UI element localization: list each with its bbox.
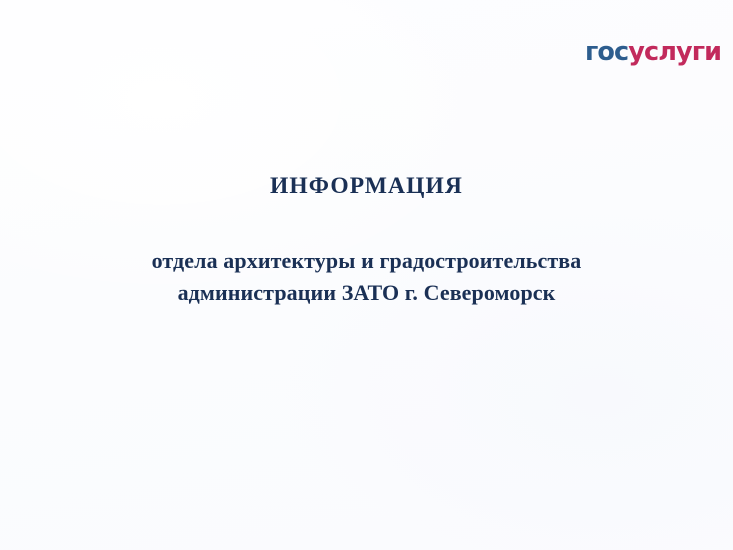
page-title: ИНФОРМАЦИЯ [0,172,733,201]
gosuslugi-logo-suffix: услуги [628,37,721,67]
subtitle-line-2: администрации ЗАТО г. Североморск [0,277,733,309]
subtitle-line-1: отдела архитектуры и градостроительства [0,245,733,277]
subtitle-block: отдела архитектуры и градостроительства … [0,245,733,309]
slide-content-area [0,330,733,550]
presentation-slide: госуслуги ИНФОРМАЦИЯ отдела архитектуры … [0,0,733,550]
gosuslugi-logo-text: госуслуги [585,40,721,66]
gosuslugi-logo: госуслуги [585,38,701,68]
gosuslugi-logo-prefix: гос [585,37,628,67]
title-block: ИНФОРМАЦИЯ [0,172,733,201]
